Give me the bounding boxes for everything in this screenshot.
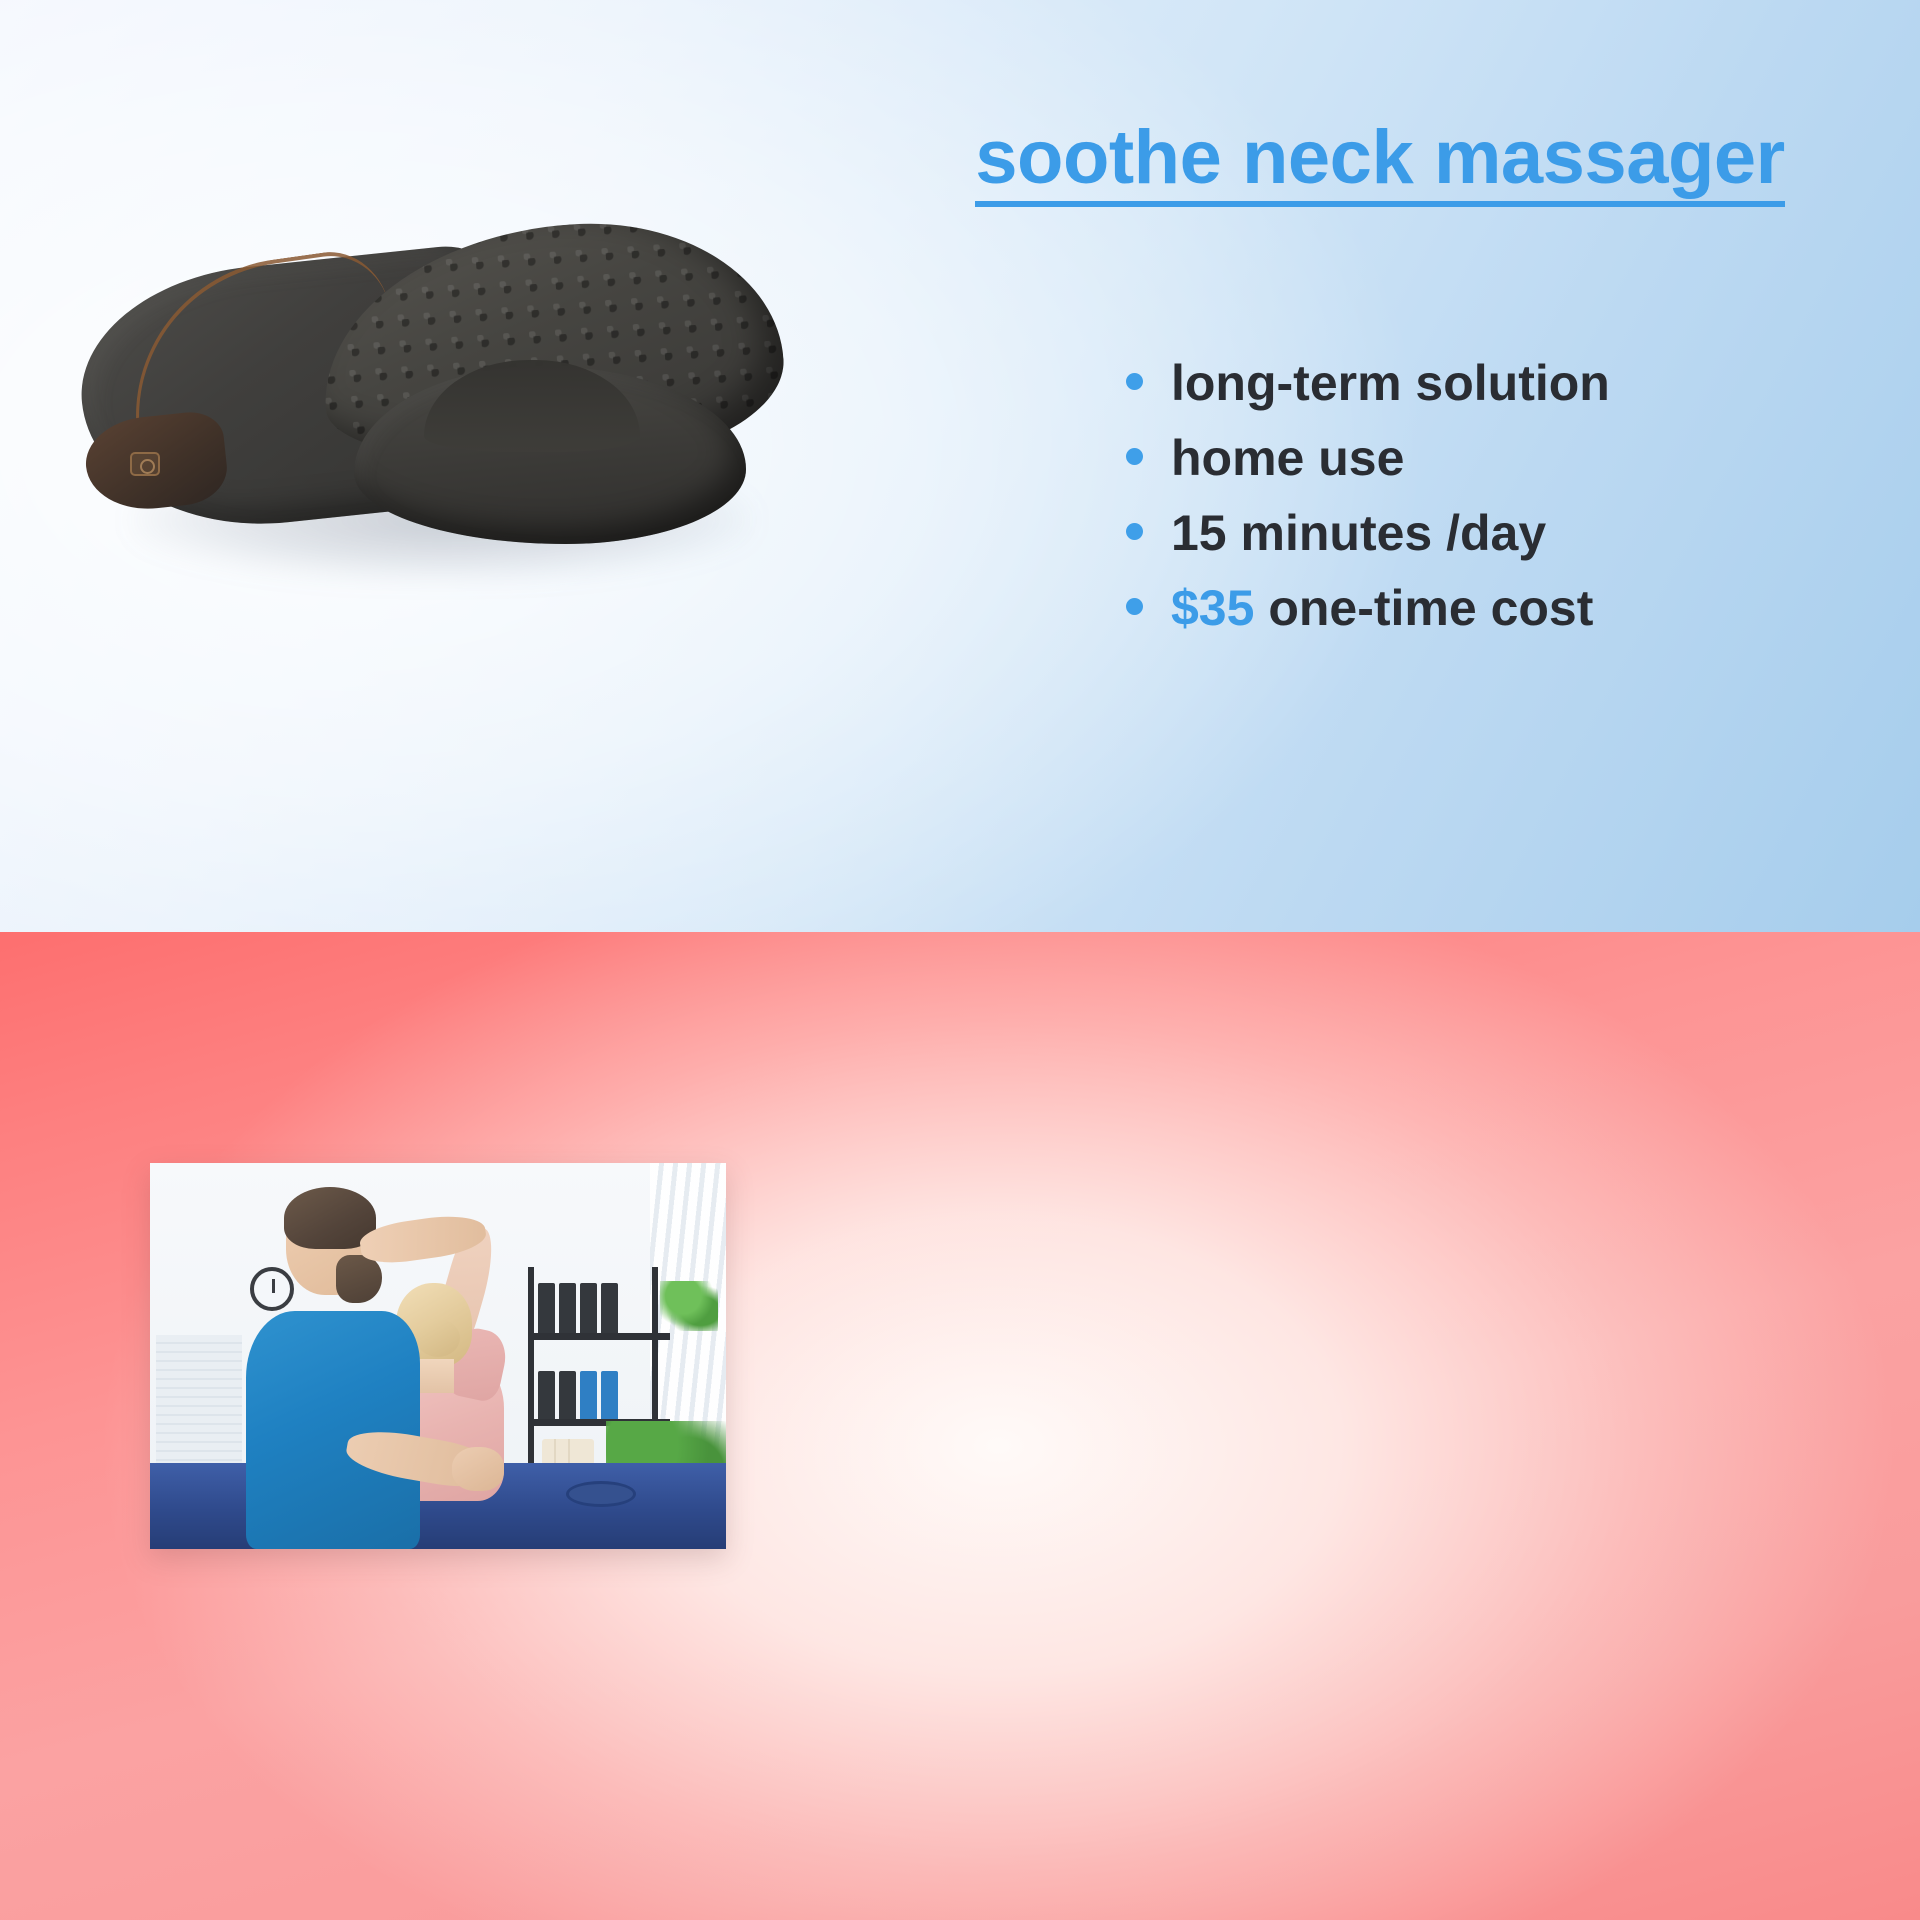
chiropractor-scrubs bbox=[246, 1311, 420, 1549]
section-chiropractors: chiropractors temporary relief appointme… bbox=[0, 932, 1920, 1920]
bullet-dot-icon bbox=[1126, 373, 1143, 390]
list-item-text: $35 one-time cost bbox=[1171, 571, 1593, 646]
wall-clock-icon bbox=[250, 1267, 294, 1311]
page-title-massager-text: soothe neck massager bbox=[975, 118, 1785, 207]
bullet-dot-icon bbox=[1126, 448, 1143, 465]
patient-neck bbox=[416, 1359, 454, 1393]
list-item-text: 15 minutes /day bbox=[1171, 496, 1546, 571]
list-item-text: long-term solution bbox=[1171, 346, 1610, 421]
feature-list-massager: long-term solution home use 15 minutes /… bbox=[1126, 346, 1610, 646]
power-button-icon bbox=[130, 452, 160, 476]
bullet-dot-icon bbox=[1126, 598, 1143, 615]
price-value: $35 bbox=[1171, 580, 1254, 636]
paper-rolls bbox=[542, 1439, 594, 1465]
section-soothe-neck-massager: soothe neck massager long-term solution … bbox=[0, 0, 1920, 932]
list-item-price: $35 one-time cost bbox=[1126, 571, 1610, 646]
hanging-plant bbox=[660, 1281, 718, 1331]
chiropractor-beard bbox=[336, 1255, 382, 1303]
binder-row bbox=[538, 1283, 618, 1333]
patient-hair-bun bbox=[416, 1319, 460, 1357]
list-item: long-term solution bbox=[1126, 346, 1610, 421]
list-item-text: home use bbox=[1171, 421, 1404, 496]
list-item: home use bbox=[1126, 421, 1610, 496]
list-item: 15 minutes /day bbox=[1126, 496, 1610, 571]
neck-massager-product-photo bbox=[72, 210, 802, 610]
bullet-dot-icon bbox=[1126, 523, 1143, 540]
page-title-chiropractors-text: chiropractors bbox=[1165, 1910, 1636, 1920]
page-title-massager: soothe neck massager bbox=[900, 118, 1860, 207]
page-title-chiropractors: chiropractors bbox=[940, 1910, 1860, 1920]
comparison-poster: soothe neck massager long-term solution … bbox=[0, 0, 1920, 1920]
binder-row bbox=[538, 1371, 618, 1419]
chiropractor-treatment-photo bbox=[150, 1163, 726, 1549]
chiropractor-hand bbox=[452, 1447, 504, 1491]
shelf bbox=[528, 1333, 670, 1340]
price-label: one-time cost bbox=[1254, 580, 1593, 636]
